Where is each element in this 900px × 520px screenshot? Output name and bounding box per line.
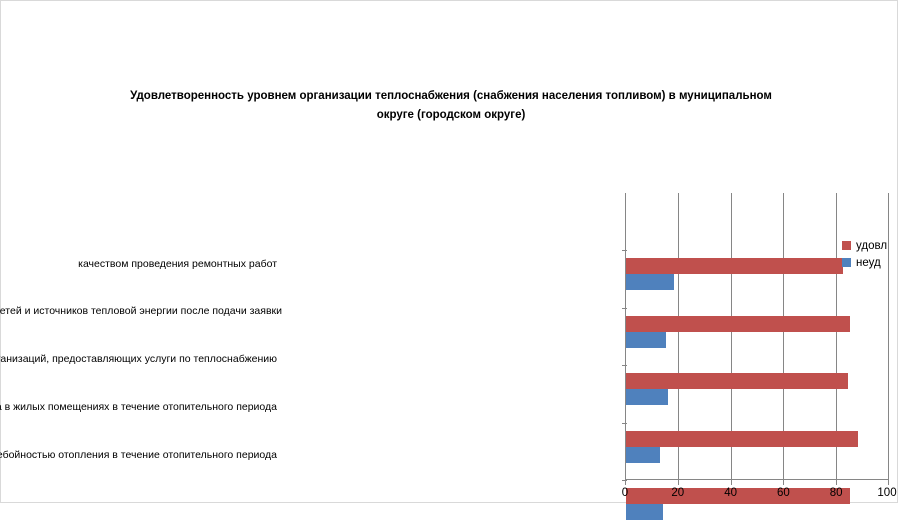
category-label-3: температурой воздуха в жилых помещениях … xyxy=(0,401,277,414)
xtick-label-60: 60 xyxy=(763,487,803,499)
category-label-1: оперативностью проведения ремонта теплов… xyxy=(0,305,282,318)
bar-udovl-4[interactable] xyxy=(626,258,843,274)
bar-group-информационной-открытостью xyxy=(626,365,889,422)
bar-group-бесперебойностью-отопления-bars xyxy=(626,423,889,480)
legend-swatch-udovl-icon xyxy=(842,241,851,250)
legend-label-udovl: удовл xyxy=(856,240,887,252)
chart-container: Удовлетворенность уровнем организации те… xyxy=(0,0,898,503)
category-label-2: информационной открытостью организаций, … xyxy=(0,353,277,366)
legend-item-neud[interactable]: неуд xyxy=(842,254,887,271)
category-tick xyxy=(622,308,627,309)
xtick-mark-40 xyxy=(731,480,732,485)
xtick-mark-100 xyxy=(888,480,889,485)
bar-udovl-3[interactable] xyxy=(626,316,850,332)
bar-neud-4[interactable] xyxy=(626,274,674,290)
bar-neud-0[interactable] xyxy=(626,504,663,520)
bar-neud-2[interactable] xyxy=(626,389,668,405)
bar-udovl-2[interactable] xyxy=(626,373,848,389)
xtick-mark-80 xyxy=(836,480,837,485)
xtick-label-0: 0 xyxy=(605,487,645,499)
xtick-label-80: 80 xyxy=(816,487,856,499)
chart-title-line-1: Удовлетворенность уровнем организации те… xyxy=(130,90,676,102)
category-label-0: качеством проведения ремонтных работ xyxy=(78,258,277,271)
category-tick xyxy=(622,250,627,251)
chart-title: Удовлетворенность уровнем организации те… xyxy=(111,87,791,125)
legend-label-neud: неуд xyxy=(856,257,881,269)
xtick-label-100: 100 xyxy=(867,487,900,499)
xtick-mark-0 xyxy=(625,480,626,485)
chart-legend: удовл неуд xyxy=(842,237,887,271)
xtick-label-40: 40 xyxy=(711,487,751,499)
xtick-label-20: 20 xyxy=(658,487,698,499)
bar-group-оперативностью-ремонта xyxy=(626,308,889,365)
legend-item-udovl[interactable]: удовл xyxy=(842,237,887,254)
bar-neud-3[interactable] xyxy=(626,332,666,348)
category-label-4: бесперебойностью отопления в течение ото… xyxy=(0,449,277,462)
category-tick xyxy=(622,365,627,366)
legend-swatch-neud-icon xyxy=(842,258,851,267)
xtick-mark-60 xyxy=(783,480,784,485)
xtick-mark-20 xyxy=(678,480,679,485)
